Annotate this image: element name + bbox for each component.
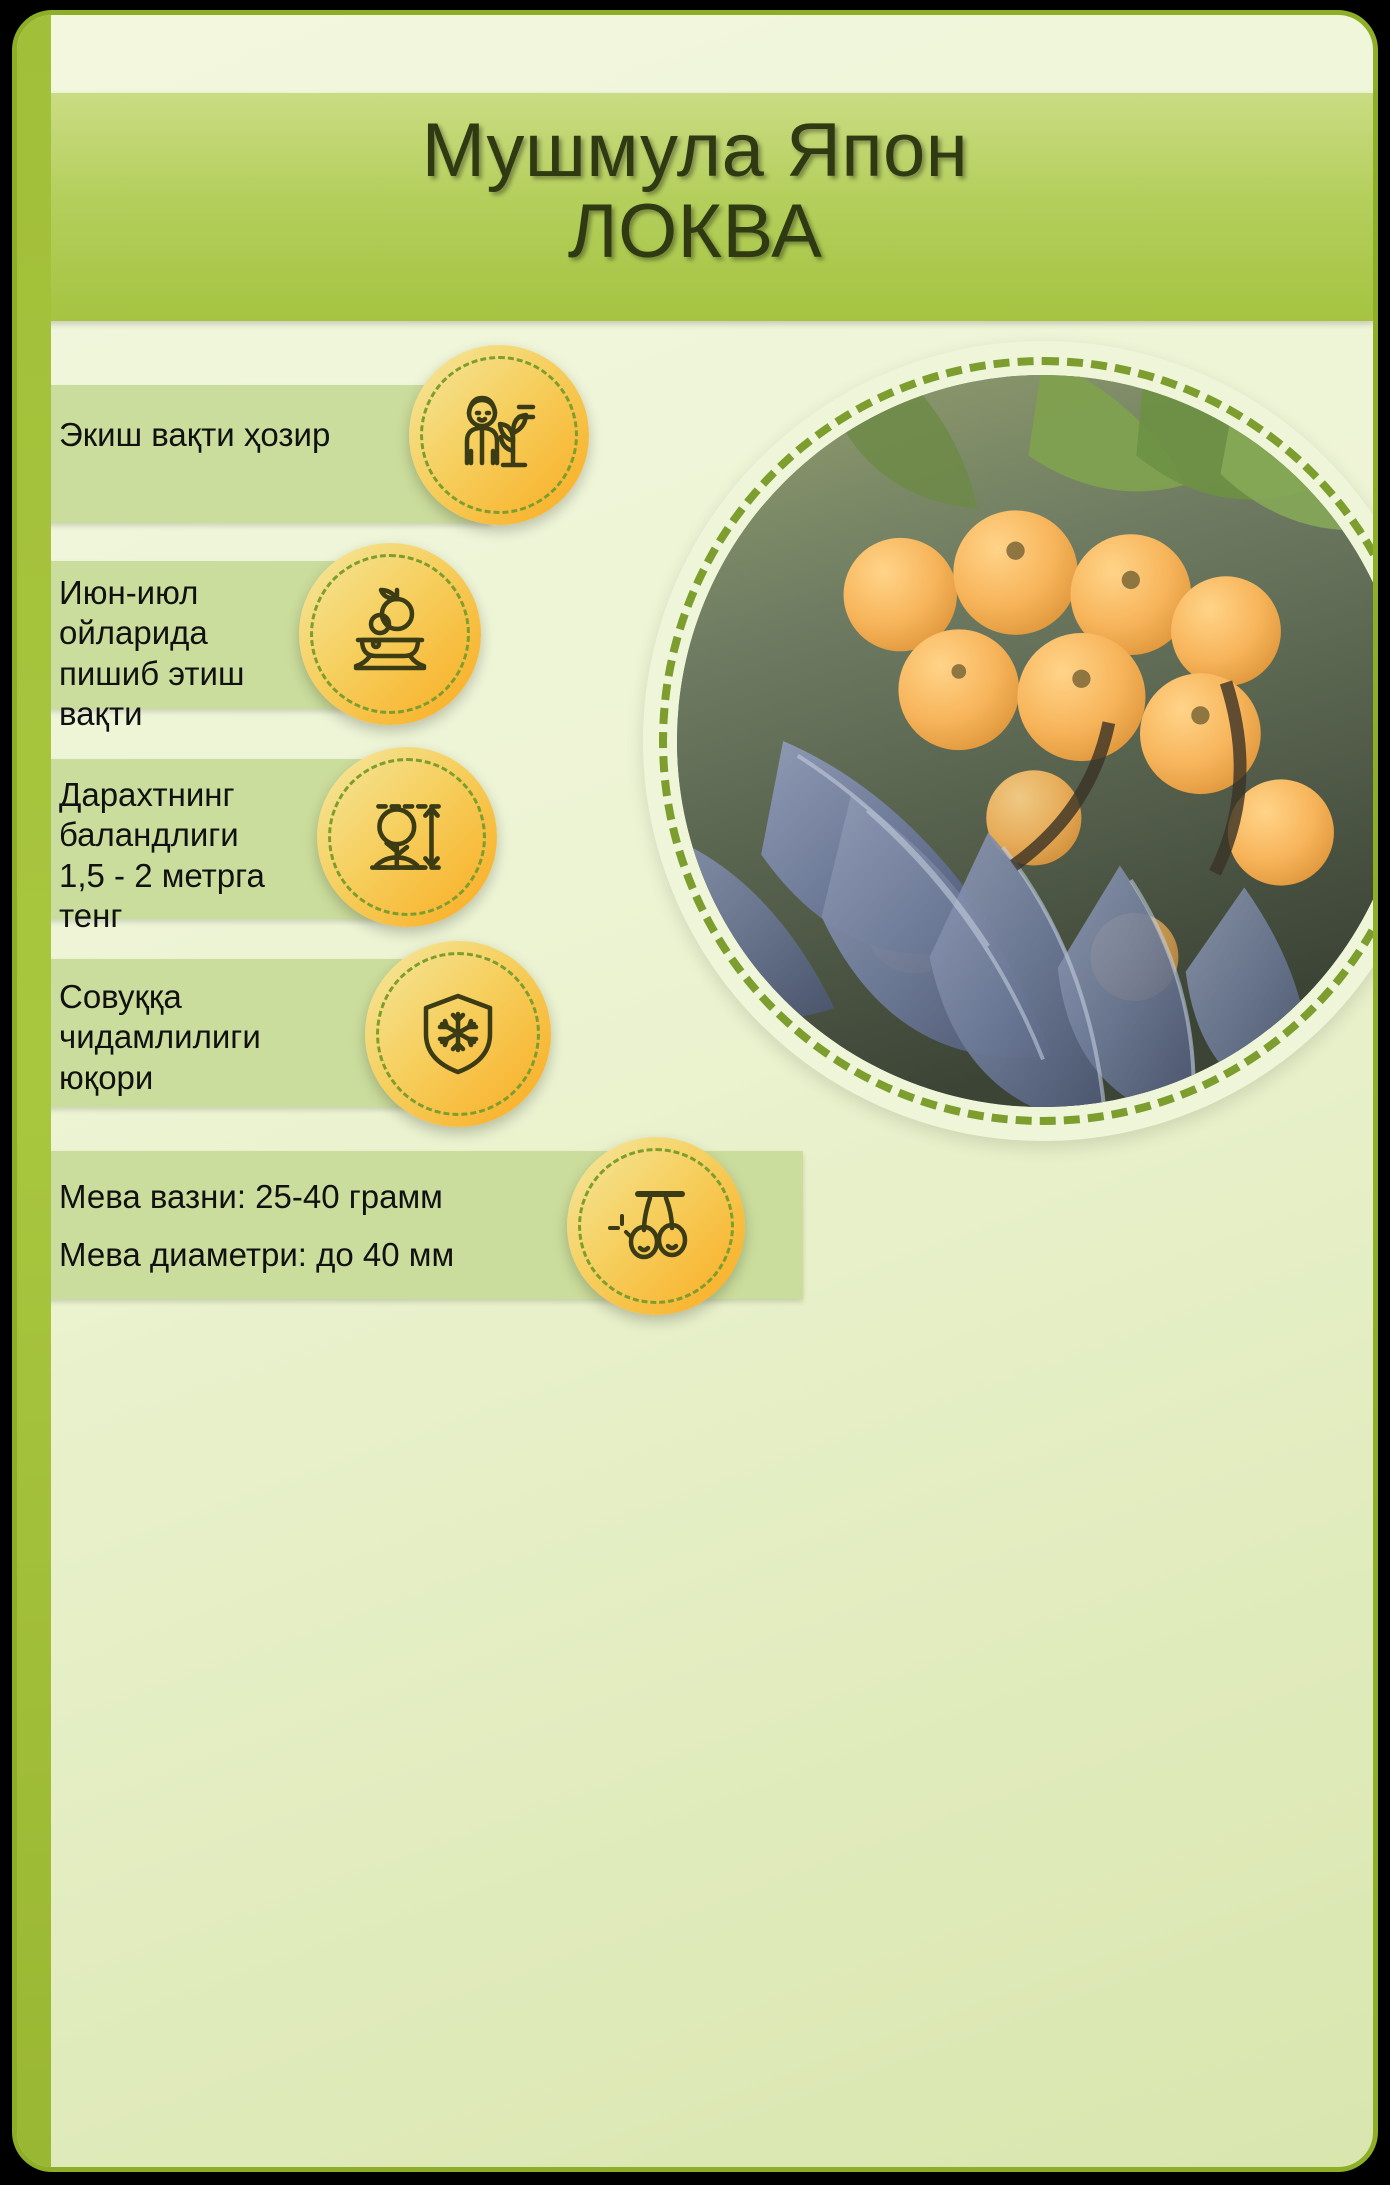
info-text-fruit-diameter: Мева диаметри: до 40 мм: [59, 1235, 454, 1275]
fruit-basket-icon: [340, 584, 440, 684]
info-text-ripening-time: Июн-июл ойларида пишиб этиш вақти: [59, 573, 244, 734]
icon-bubble-frost-resistance[interactable]: [365, 941, 551, 1127]
farmer-planting-icon: [449, 385, 549, 485]
info-text-frost-resistance: Совуққа чидамлилиги юқори: [59, 977, 261, 1098]
title-line-2: ЛОКВА: [17, 192, 1373, 273]
left-accent-bar: [17, 15, 51, 2167]
page-title: Мушмула Япон ЛОКВА: [17, 111, 1373, 272]
info-text-planting-time: Экиш вақти ҳозир: [59, 415, 330, 455]
icon-bubble-ripening-time[interactable]: [299, 543, 481, 725]
snowflake-shield-icon: [408, 984, 508, 1084]
icon-bubble-fruit-size[interactable]: [567, 1137, 745, 1315]
cherry-fruit-icon: [606, 1176, 706, 1276]
photo-circle: [643, 341, 1378, 1141]
info-text-fruit-weight: Мева вазни: 25-40 грамм: [59, 1177, 443, 1217]
title-line-1: Мушмула Япон: [422, 108, 969, 193]
infographic-card: Мушмула Япон ЛОКВА Экиш вақти ҳозир Июн-…: [12, 10, 1378, 2172]
loquat-fruit-photo: [677, 375, 1378, 1107]
info-text-tree-height: Дарахтнинг баландлиги 1,5 - 2 метрга тен…: [59, 775, 265, 936]
tree-height-measure-icon: [356, 786, 458, 888]
icon-bubble-tree-height[interactable]: [317, 747, 497, 927]
icon-bubble-planting-time[interactable]: [409, 345, 589, 525]
